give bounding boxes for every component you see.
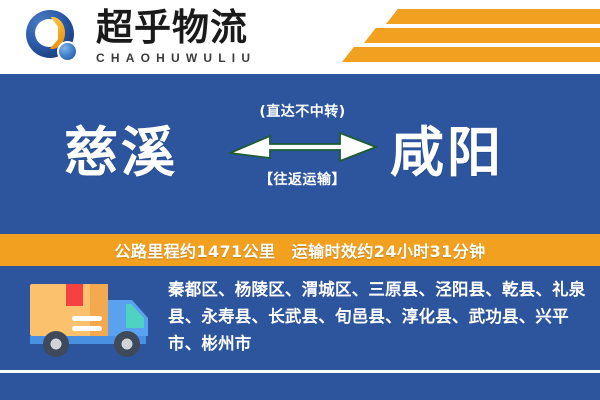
coverage-areas-text: 秦都区、杨陵区、渭城区、三原县、泾阳县、乾县、礼泉县、永寿县、长武县、旬邑县、淳… — [168, 276, 586, 357]
distance-duration-text: 公路里程约1471公里 运输时效约24小时31分钟 — [114, 238, 485, 262]
stripe-3 — [342, 47, 600, 62]
route-arrow-block: (直达不中转) 【往返运输】 — [225, 102, 380, 212]
logistics-route-banner: 超乎物流 CHAOHUWULIU 慈溪 (直达不中转) 【往返运输】 咸阳 公路… — [0, 0, 600, 400]
brand-logo-icon — [26, 10, 82, 66]
origin-city: 慈溪 — [64, 118, 178, 188]
stripe-1 — [386, 9, 600, 24]
bottom-divider — [0, 370, 600, 373]
route-note-bottom: 【往返运输】 — [225, 170, 380, 190]
banner-header: 超乎物流 CHAOHUWULIU — [0, 0, 600, 74]
stripe-2 — [364, 28, 600, 43]
brand-text-group: 超乎物流 CHAOHUWULIU — [96, 8, 276, 66]
brand-name-en: CHAOHUWULIU — [96, 50, 276, 66]
route-note-top: (直达不中转) — [225, 102, 380, 122]
brand-name-cn: 超乎物流 — [96, 8, 276, 48]
delivery-truck-icon — [28, 278, 153, 360]
logo-small-circle-icon — [57, 41, 78, 62]
destination-city: 咸阳 — [390, 118, 504, 188]
double-headed-arrow-icon — [228, 130, 378, 164]
header-stripes-decoration — [330, 6, 600, 68]
distance-duration-bar: 公路里程约1471公里 运输时效约24小时31分钟 — [0, 234, 600, 266]
route-panel: 慈溪 (直达不中转) 【往返运输】 咸阳 — [0, 74, 600, 234]
